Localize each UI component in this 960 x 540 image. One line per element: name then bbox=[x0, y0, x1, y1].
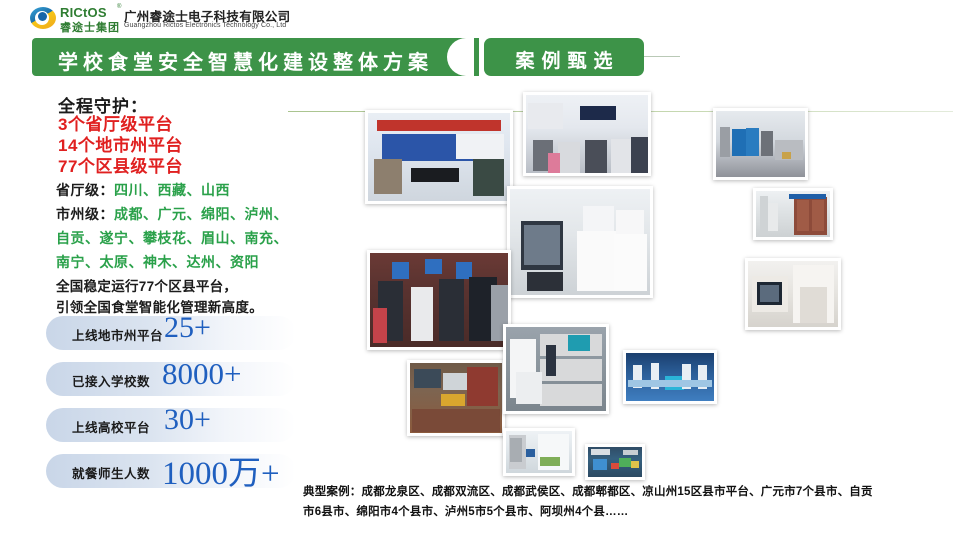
summary-text: 全国稳定运行77个区县平台， 引领全国食堂智能化管理新高度。 bbox=[56, 276, 263, 318]
photo-staff-terminal-image bbox=[506, 431, 572, 473]
stat-value: 8000+ bbox=[162, 356, 241, 392]
stat-label: 就餐师生人数 bbox=[72, 463, 150, 482]
platform-count-item: 3个省厅级平台 bbox=[58, 114, 183, 135]
photo-open-day-crowd-image bbox=[526, 95, 648, 173]
registered-trademark-icon: ® bbox=[117, 4, 121, 10]
platform-count-item: 77个区县级平台 bbox=[58, 156, 183, 177]
photo-tablet-checkin bbox=[745, 258, 841, 330]
city-level-value: 成都、广元、绵阳、泸州、 bbox=[114, 206, 288, 222]
city-level-value: 自贡、遂宁、攀枝花、眉山、南充、 bbox=[56, 230, 288, 246]
tab-trailing-line bbox=[644, 56, 680, 57]
platform-counts-list: 3个省厅级平台 14个地市州平台 77个区县级平台 bbox=[58, 114, 183, 177]
stat-value: 25+ bbox=[164, 311, 211, 345]
caption-line: 市6县市、绵阳市4个县市、泸州5市5个县市、阿坝州4个县…… bbox=[303, 502, 953, 522]
section-tab-label: 案例甄选 bbox=[484, 46, 644, 73]
photo-kitchen-inspection bbox=[713, 108, 808, 180]
stat-value: 1000万+ bbox=[162, 446, 280, 494]
photo-control-room-screens bbox=[365, 110, 513, 204]
photo-blue-classroom bbox=[623, 350, 717, 404]
stat-bar-college-platforms: 上线高校平台 30+ bbox=[46, 408, 296, 442]
photo-food-trays-image bbox=[588, 447, 642, 477]
case-list-caption: 典型案例：成都龙泉区、成都双流区、成都武侯区、成都郫都区、凉山州15区县市平台、… bbox=[303, 482, 953, 522]
province-level-value: 四川、西藏、山西 bbox=[114, 182, 230, 198]
photo-chef-monitor-station bbox=[507, 186, 653, 298]
slide-title: 学校食堂安全智慧化建设整体方案 bbox=[58, 46, 433, 75]
province-level-label: 省厅级： bbox=[56, 182, 114, 198]
banner-notch-decor bbox=[447, 38, 473, 76]
stat-bar-city-platforms: 上线地市州平台 25+ bbox=[46, 316, 296, 350]
photo-food-trays bbox=[585, 444, 645, 480]
photo-storage-shelves bbox=[503, 324, 609, 414]
photo-staff-terminal bbox=[503, 428, 575, 476]
logo-bar: RICtOS ® 睿途士集团 广州睿途士电子科技有限公司 Guangzhou R… bbox=[0, 0, 960, 36]
banner-divider-bar bbox=[474, 38, 479, 76]
photo-entrance-door bbox=[753, 188, 833, 240]
photo-storage-shelves-image bbox=[506, 327, 606, 411]
city-level-label: 市州级： bbox=[56, 206, 114, 222]
stat-label: 上线地市州平台 bbox=[72, 325, 163, 344]
photo-control-room-screens-image bbox=[368, 113, 510, 201]
summary-line: 引领全国食堂智能化管理新高度。 bbox=[56, 297, 263, 318]
photo-visit-tour-group-image bbox=[370, 253, 508, 347]
photo-entrance-door-image bbox=[756, 191, 830, 237]
photo-cctv-kitchen-detect-image bbox=[410, 363, 502, 433]
city-level-row: 南宁、太原、神木、达州、资阳 bbox=[56, 252, 259, 272]
stat-label: 上线高校平台 bbox=[72, 417, 150, 436]
city-level-row: 市州级：成都、广元、绵阳、泸州、 bbox=[56, 204, 288, 224]
photo-visit-tour-group bbox=[367, 250, 511, 350]
photo-cctv-kitchen-detect bbox=[407, 360, 505, 436]
photo-tablet-checkin-image bbox=[748, 261, 838, 327]
section-tab[interactable]: 案例甄选 bbox=[484, 38, 644, 76]
company-name-en: Guangzhou Rictos Electronics Technology … bbox=[124, 22, 286, 29]
photo-kitchen-inspection-image bbox=[716, 111, 805, 177]
photo-collage bbox=[285, 88, 960, 540]
rictos-eye-logo-icon bbox=[30, 5, 56, 31]
photo-blue-classroom-image bbox=[626, 353, 714, 401]
city-level-value: 南宁、太原、神木、达州、资阳 bbox=[56, 254, 259, 270]
summary-line: 全国稳定运行77个区县平台， bbox=[56, 276, 263, 297]
city-level-row: 自贡、遂宁、攀枝花、眉山、南充、 bbox=[56, 228, 288, 248]
logo-wordmark-en: RICtOS bbox=[60, 5, 107, 20]
stat-bar-schools: 已接入学校数 8000+ bbox=[46, 362, 296, 396]
slide-root: RICtOS ® 睿途士集团 广州睿途士电子科技有限公司 Guangzhou R… bbox=[0, 0, 960, 540]
left-panel: 全程守护： 3个省厅级平台 14个地市州平台 77个区县级平台 省厅级：四川、西… bbox=[0, 88, 300, 540]
stat-label: 已接入学校数 bbox=[72, 371, 150, 390]
photo-open-day-crowd bbox=[523, 92, 651, 176]
title-banner: 学校食堂安全智慧化建设整体方案 bbox=[32, 38, 472, 76]
platform-count-item: 14个地市州平台 bbox=[58, 135, 183, 156]
stat-bar-diners: 就餐师生人数 1000万+ bbox=[46, 454, 296, 488]
photo-chef-monitor-station-image bbox=[510, 189, 650, 295]
province-level-row: 省厅级：四川、西藏、山西 bbox=[56, 180, 230, 200]
caption-line: 典型案例：成都龙泉区、成都双流区、成都武侯区、成都郫都区、凉山州15区县市平台、… bbox=[303, 482, 953, 502]
stat-value: 30+ bbox=[164, 403, 211, 437]
logo-wordmark-cn: 睿途士集团 bbox=[60, 19, 120, 35]
